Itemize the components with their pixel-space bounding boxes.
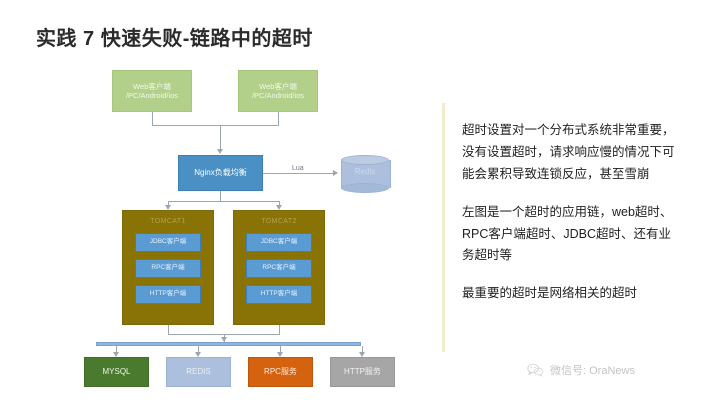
connector-tomcat2-down [279,325,280,334]
watermark-text: 微信号: OraNews [550,362,635,378]
watermark: 微信号: OraNews [527,362,635,378]
connector-tomcat1-down [168,325,169,334]
connector-bus-to-nginx [220,125,221,149]
page-title: 实践 7 快速失败-链路中的超时 [36,22,313,51]
tomcat-2-rpc-client: RPC客户端 [246,259,312,278]
service-mysql-label: MYSQL [102,367,130,377]
tomcat-1-http-client: HTTP客户端 [135,285,201,304]
node-service-http: HTTP服务 [330,357,395,387]
nginx-label: Nginx负载均衡 [194,168,246,178]
connector-label-lua: Lua [292,165,304,172]
connector-tomcat-bus [168,201,280,202]
notes-paragraph-2: 左图是一个超时的应用链，web超时、RPC客户端超时、JDBC超时、还有业务超时… [462,202,680,268]
service-http-label: HTTP服务 [344,367,381,377]
wechat-icon [527,363,544,377]
connector-client2-down [278,112,279,125]
arrow-into-redis [333,170,338,176]
node-web-client-1: Web客户端 /PC/Android/ios [112,70,192,112]
tomcat-2-http-client: HTTP客户端 [246,285,312,304]
architecture-diagram: Web客户端 /PC/Android/ios Web客户端 /PC/Androi… [0,55,430,400]
slide-canvas: 实践 7 快速失败-链路中的超时 Web客户端 /PC/Android/ios … [0,0,720,405]
tomcat-1-rpc-client: RPC客户端 [135,259,201,278]
tomcat-2-title: TOMCAT2 [261,218,297,227]
service-rpc-label: RPC服务 [264,367,297,377]
service-redis-label: REDIS [186,367,210,377]
node-tomcat-1: TOMCAT1 JDBC客户端 RPC客户端 HTTP客户端 [122,210,214,325]
redis-cylinder-bottom [341,183,389,193]
node-tomcat-2: TOMCAT2 JDBC客户端 RPC客户端 HTTP客户端 [233,210,325,325]
notes-divider [442,103,445,352]
service-bus-bar [96,342,361,346]
web-client-1-line1: Web客户端 [133,82,171,91]
notes-panel: 超时设置对一个分布式系统非常重要，没有设置超时，请求响应慢的情况下可能会累积导致… [462,120,680,305]
connector-client1-down [152,112,153,125]
node-web-client-2: Web客户端 /PC/Android/ios [238,70,318,112]
tomcat-2-jdbc-client: JDBC客户端 [246,233,312,252]
redis-cylinder-top [341,155,389,165]
web-client-2-line1: Web客户端 [259,82,297,91]
web-client-1-line2: /PC/Android/ios [126,91,178,100]
connector-nginx-down [220,191,221,201]
connector-nginx-redis [263,173,333,174]
tomcat-1-jdbc-client: JDBC客户端 [135,233,201,252]
notes-paragraph-1: 超时设置对一个分布式系统非常重要，没有设置超时，请求响应慢的情况下可能会累积导致… [462,120,680,186]
node-service-rpc: RPC服务 [248,357,313,387]
web-client-2-line2: /PC/Android/ios [252,91,304,100]
tomcat-1-title: TOMCAT1 [150,218,186,227]
redis-label: Redis [341,167,389,176]
node-redis-cache: Redis [341,155,389,193]
node-nginx: Nginx负载均衡 [178,155,263,191]
node-service-redis: REDIS [166,357,231,387]
notes-paragraph-3: 最重要的超时是网络相关的超时 [462,283,680,305]
node-service-mysql: MYSQL [84,357,149,387]
arrow-into-nginx [217,149,223,154]
connector-clients-bus [152,125,279,126]
